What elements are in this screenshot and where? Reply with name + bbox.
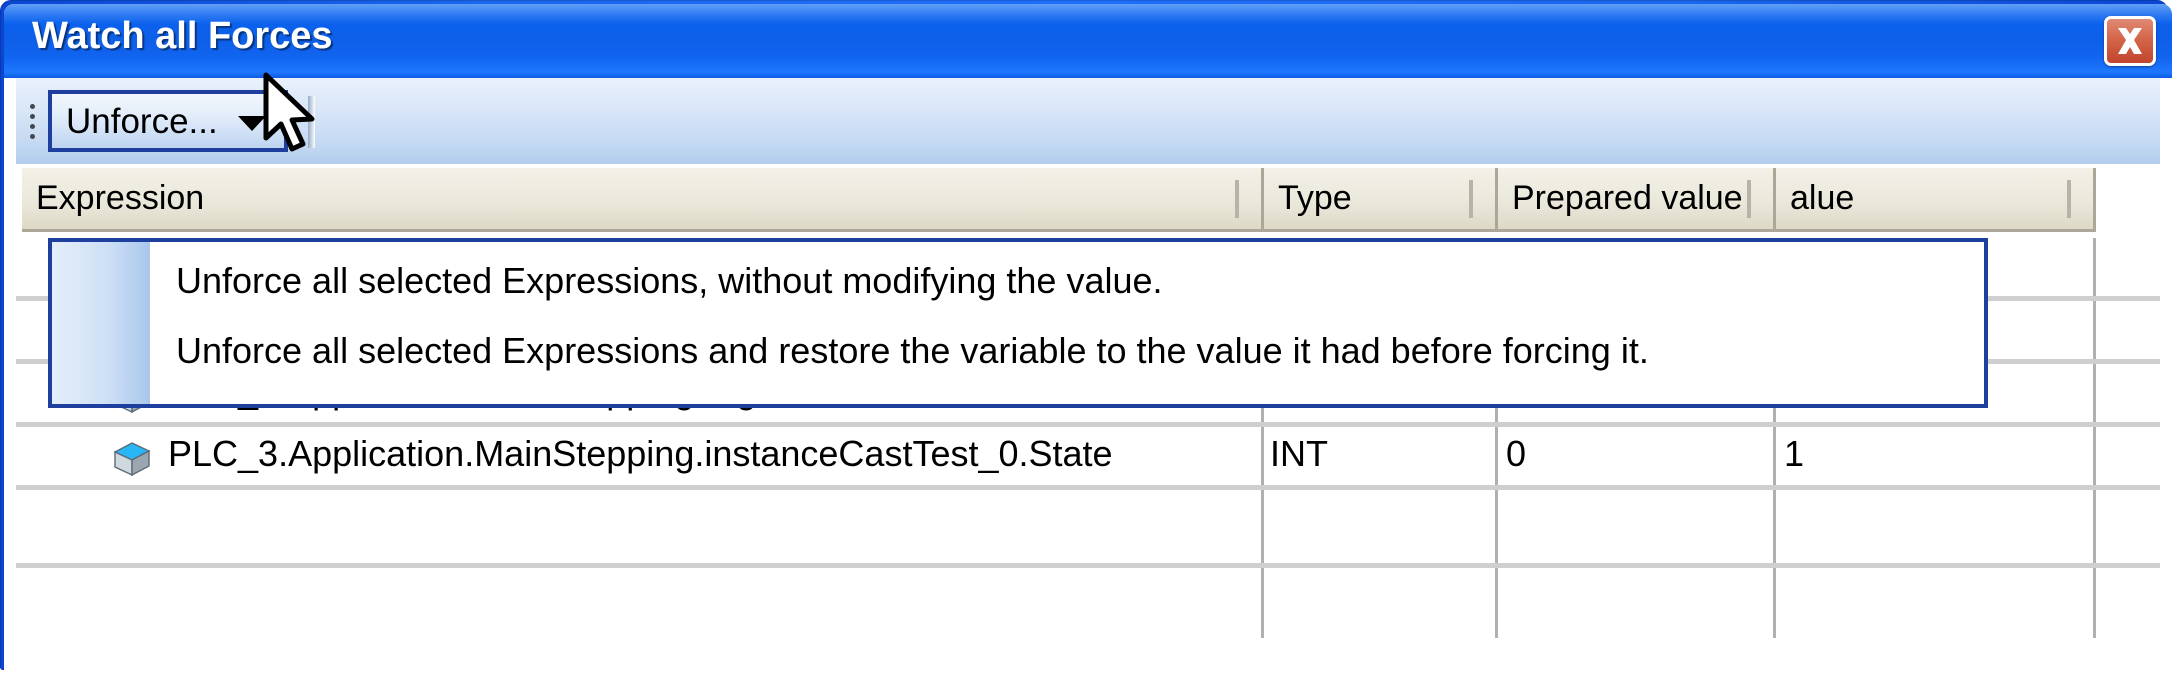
table-row[interactable]: PLC_3.Application.MainStepping.instanceC…: [16, 427, 2160, 490]
variable-cube-icon: [112, 441, 152, 477]
column-header-type[interactable]: Type: [1264, 168, 1498, 232]
prepared-value-cell: 0: [1506, 433, 1526, 475]
column-resize-handle[interactable]: [1235, 180, 1239, 218]
column-header-type-label: Type: [1278, 179, 1352, 218]
menu-item-unforce-keep-value[interactable]: Unforce all selected Expressions, withou…: [176, 260, 1163, 316]
column-header-prepared-value[interactable]: Prepared value: [1498, 168, 1776, 232]
unforce-button-label: Unforce...: [66, 102, 218, 142]
drag-gripper-icon[interactable]: [30, 104, 36, 138]
value-cell: 1: [1784, 433, 1804, 475]
table-row[interactable]: [16, 490, 2160, 568]
window-title: Watch all Forces: [32, 15, 333, 58]
column-header-expression-label: Expression: [36, 179, 204, 218]
unforce-dropdown-button[interactable]: Unforce...: [48, 90, 288, 152]
column-header-expression[interactable]: Expression: [22, 168, 1264, 232]
close-x-glyph: [2107, 19, 2153, 63]
menu-gutter-strip: [52, 242, 150, 404]
type-cell: INT: [1270, 433, 1328, 475]
title-bar[interactable]: Watch all Forces: [4, 4, 2172, 78]
chevron-down-icon: [238, 116, 266, 131]
toolbar: Unforce...: [16, 78, 2160, 164]
column-header-value-label: alue: [1790, 179, 1854, 218]
toolbar-separator: [308, 96, 315, 148]
client-area: Unforce... Expression Type Prepared valu…: [16, 78, 2160, 656]
column-header-value[interactable]: alue: [1776, 168, 2096, 232]
column-header-prepared-value-label: Prepared value: [1512, 179, 1743, 218]
grid-column-header: Expression Type Prepared value alue: [16, 164, 2160, 238]
menu-item-unforce-restore-value[interactable]: Unforce all selected Expressions and res…: [176, 330, 1649, 386]
column-resize-handle[interactable]: [1469, 180, 1473, 218]
watch-all-forces-window: Watch all Forces Unforce... Expression: [4, 4, 2172, 674]
column-resize-handle[interactable]: [1747, 180, 1751, 218]
column-resize-handle[interactable]: [2067, 180, 2071, 218]
expression-cell: PLC_3.Application.MainStepping.instanceC…: [168, 433, 1113, 475]
unforce-dropdown-menu: Unforce all selected Expressions, withou…: [48, 238, 1988, 408]
close-icon[interactable]: [2104, 16, 2156, 66]
